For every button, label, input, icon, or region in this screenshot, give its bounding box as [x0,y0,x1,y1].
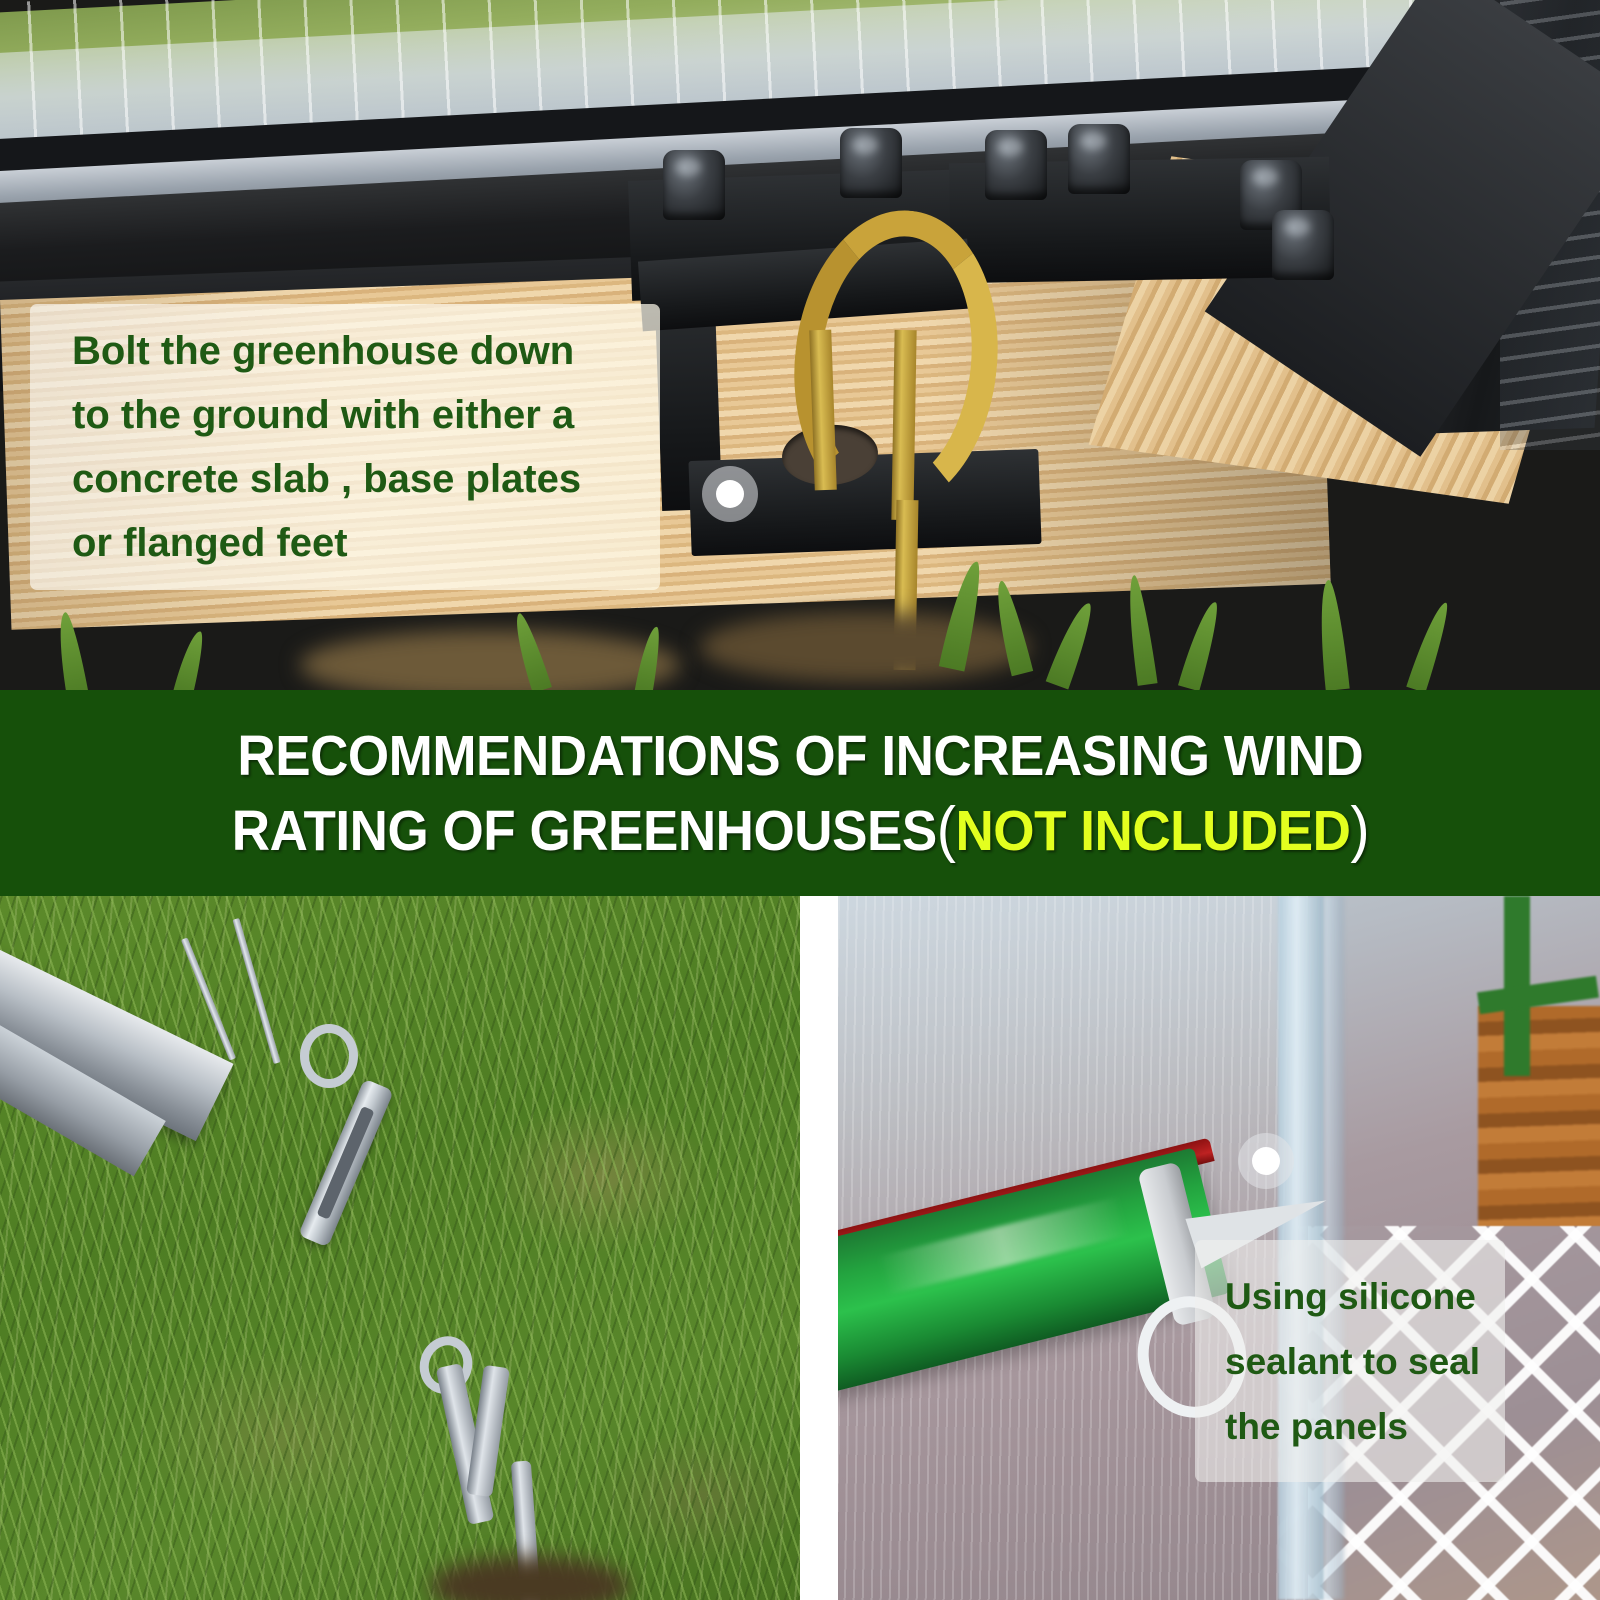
headline-highlight: NOT INCLUDED [955,799,1350,863]
grass-tuft [1314,579,1349,691]
dome-nut [663,150,725,220]
caption-line: or flanged feet [72,511,660,575]
paren-close: ) [1350,795,1369,864]
paren-open: ( [936,795,955,864]
headline-line-2: RATING OF GREENHOUSES(NOT INCLUDED) [231,793,1368,868]
photo-silicone-sealant: Using silicone sealant to seal the panel… [838,896,1600,1600]
grass-tuft [172,629,208,692]
headline-line-1: RECOMMENDATIONS OF INCREASING WIND [237,719,1363,793]
headline-banner: RECOMMENDATIONS OF INCREASING WIND RATIN… [0,690,1600,896]
lawn-background [0,896,800,1600]
hotspot-dot-core [716,480,744,508]
soil-patch [700,612,1030,682]
dome-nut [1272,210,1334,280]
grass-tuft [1178,599,1224,692]
caption-line: Using silicone [1225,1264,1505,1329]
grass-tuft [1046,599,1099,690]
cable-eye-loop [300,1024,358,1088]
soil-patch [300,630,680,692]
caption-bolt-down: Bolt the greenhouse down to the ground w… [30,304,660,590]
hotspot-dot-marker-bottom-right[interactable] [1238,1133,1294,1189]
caption-silicone-sealant: Using silicone sealant to seal the panel… [1195,1240,1505,1482]
dome-nut [840,128,902,198]
dome-nut [985,130,1047,200]
hotspot-dot-marker-top[interactable] [702,466,758,522]
caption-line: Bolt the greenhouse down [72,319,660,383]
photo-tie-down-kit: Using extra tie-down kits [0,896,800,1600]
infographic-page: Bolt the greenhouse down to the ground w… [0,0,1600,1600]
headline-line-2-text: RATING OF GREENHOUSES [231,799,936,863]
grass-tuft [1122,574,1157,686]
grass-texture [0,896,800,1600]
dome-nut [1068,124,1130,194]
hotspot-dot-core [1252,1147,1280,1175]
caption-line: sealant to seal [1225,1329,1505,1394]
caption-line: the panels [1225,1394,1505,1459]
anchor-leg-right [891,330,916,520]
grass-tuft [1406,599,1453,692]
caption-line: concrete slab , base plates [72,447,660,511]
photo-greenhouse-base-anchor: Bolt the greenhouse down to the ground w… [0,0,1600,692]
caption-line: to the ground with either a [72,383,660,447]
